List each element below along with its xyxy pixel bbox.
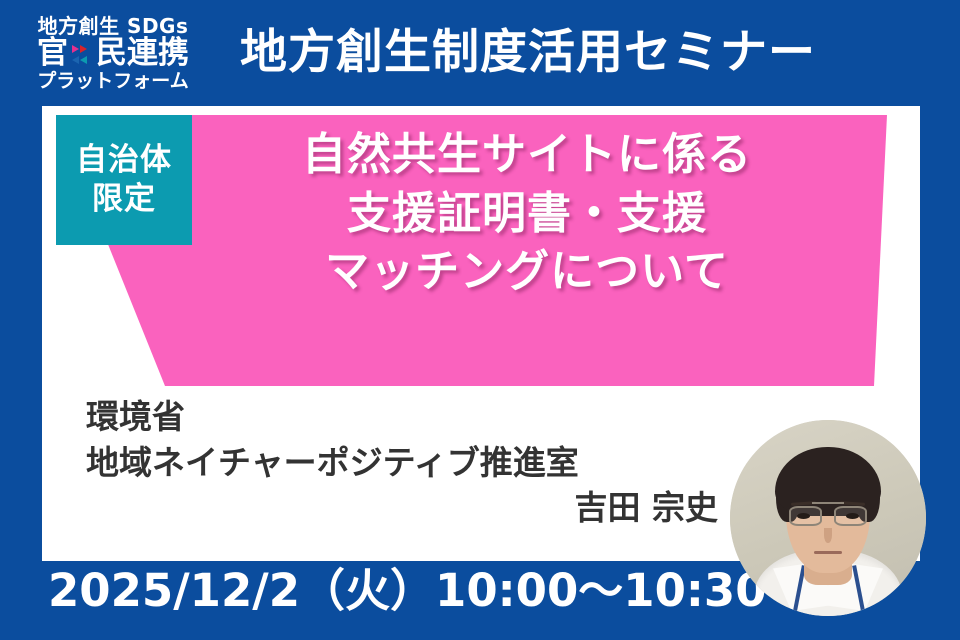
- logo-minrenkei-chars: 民連携: [96, 38, 189, 69]
- logo-line-kanmin: 官 民連携: [18, 38, 208, 69]
- title-line-1: 自然共生サイトに係る: [172, 126, 882, 185]
- audience-restriction-badge: 自治体 限定: [56, 115, 192, 245]
- kanmin-arrows-mark-icon: [69, 41, 95, 67]
- speaker-organization: 環境省: [86, 394, 726, 440]
- speaker-portrait-photo: [730, 420, 926, 616]
- logo-line-sdgs: 地方創生 SDGs: [18, 16, 208, 36]
- logo-line-platform: プラットフォーム: [18, 72, 208, 91]
- speaker-department: 地域ネイチャーポジティブ推進室: [86, 440, 726, 486]
- title-line-3: マッチングについて: [172, 243, 882, 302]
- badge-line-2: 限定: [92, 180, 156, 219]
- platform-logo: 地方創生 SDGs 官 民連携 プラットフォーム: [18, 16, 208, 91]
- badge-line-1: 自治体: [76, 141, 172, 180]
- seminar-datetime: 2025/12/2（火）10:00〜10:30: [48, 568, 738, 613]
- speaker-name: 吉田 宗史: [86, 485, 726, 531]
- speaker-info: 環境省 地域ネイチャーポジティブ推進室 吉田 宗史: [86, 394, 726, 531]
- seminar-slide: 地方創生 SDGs 官 民連携 プラットフォーム 地方創生制度活用セミナー 自治…: [0, 0, 960, 640]
- title-line-2: 支援証明書・支援: [172, 185, 882, 244]
- seminar-main-title: 自然共生サイトに係る 支援証明書・支援 マッチングについて: [172, 126, 882, 302]
- seminar-header-title: 地方創生制度活用セミナー: [240, 28, 930, 77]
- logo-kan-char: 官: [37, 38, 68, 69]
